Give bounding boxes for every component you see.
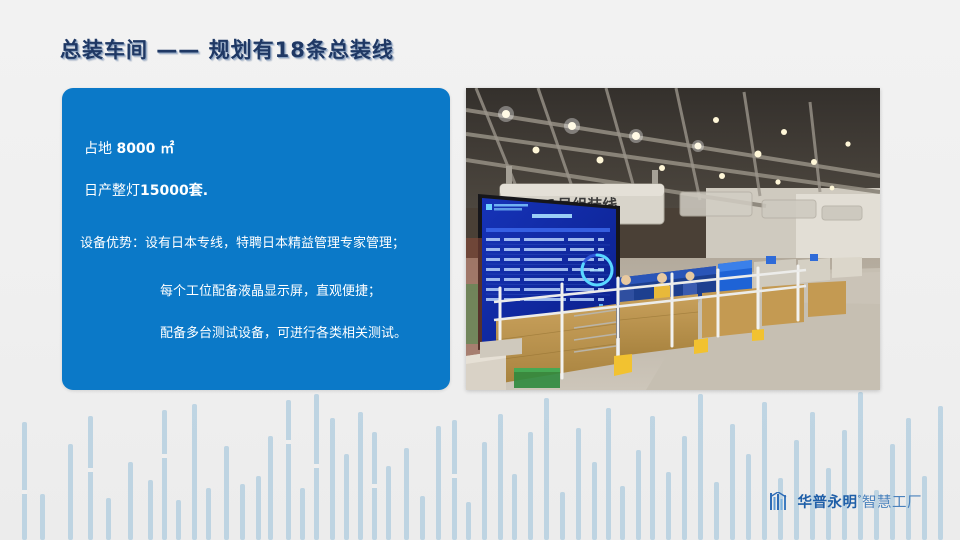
decorative-bar [746, 454, 751, 540]
decorative-bar [606, 408, 611, 540]
decorative-bar [330, 418, 335, 540]
output-suffix: . [203, 183, 208, 199]
decorative-bar [544, 398, 549, 540]
card-advantage-2: 每个工位配备液晶显示屏，直观便捷； [160, 284, 381, 300]
decorative-bar [88, 416, 93, 540]
decorative-bar [620, 486, 625, 540]
decorative-bar [682, 436, 687, 540]
info-card: 占地 8000 ㎡ 日产整灯15000套. 设备优势：设有日本专线，特聘日本精益… [62, 88, 450, 390]
decorative-bar [314, 394, 319, 540]
decorative-bar [162, 410, 167, 540]
decorative-bar [40, 494, 45, 540]
decorative-bar [592, 462, 597, 540]
decorative-bar [810, 412, 815, 540]
slide-canvas: 总装车间 —— 规划有18条总装线 占地 8000 ㎡ 日产整灯15000套. … [0, 0, 960, 540]
decorative-bar [192, 404, 197, 540]
decorative-bar-gap [286, 440, 291, 444]
decorative-bar [404, 448, 409, 540]
card-advantage-3: 配备多台测试设备，可进行各类相关测试。 [160, 326, 407, 342]
decorative-bar [22, 422, 27, 540]
decorative-bar [300, 488, 305, 540]
decorative-bar-gap [452, 474, 457, 478]
area-label: 占地 [84, 141, 116, 157]
decorative-bar [512, 474, 517, 540]
card-line-output: 日产整灯15000套. [84, 183, 208, 200]
logo-brand: 华普永明 [798, 495, 858, 511]
decorative-bar [528, 432, 533, 540]
logo-text: 华普永明°智慧工厂 [798, 491, 923, 512]
decorative-bar [358, 412, 363, 540]
decorative-bar [842, 430, 847, 540]
decorative-bar [666, 472, 671, 540]
decorative-bar [714, 482, 719, 540]
decorative-bar [938, 406, 943, 540]
decorative-bar [698, 394, 703, 540]
decorative-bar [240, 484, 245, 540]
factory-photo: 1号组装线 Assembly Line 01 [466, 88, 880, 390]
decorative-bar [576, 428, 581, 540]
decorative-bar-gap [88, 468, 93, 472]
decorative-bar-gap [22, 490, 27, 494]
decorative-bar-gap [314, 464, 319, 468]
decorative-bar [286, 400, 291, 540]
decorative-bar-pattern [0, 390, 960, 540]
decorative-bar [176, 500, 181, 540]
decorative-bar [68, 444, 73, 540]
decorative-bar [466, 502, 471, 540]
decorative-bar [372, 432, 377, 540]
decorative-bar [224, 446, 229, 540]
decorative-bar [498, 414, 503, 540]
output-value: 15000套 [140, 183, 203, 199]
decorative-bar [148, 480, 153, 540]
decorative-bar [794, 440, 799, 540]
decorative-bar [906, 418, 911, 540]
decorative-bar [106, 498, 111, 540]
area-value: 8000 ㎡ [116, 141, 174, 157]
decorative-bar-gap [372, 484, 377, 488]
decorative-bar [650, 416, 655, 540]
brand-logo: 华普永明°智慧工厂 [770, 491, 923, 512]
output-label: 日产整灯 [84, 183, 140, 199]
decorative-bar [256, 476, 261, 540]
card-line-area: 占地 8000 ㎡ [84, 141, 174, 158]
decorative-bar [268, 436, 273, 540]
decorative-bar [452, 420, 457, 540]
decorative-bar [636, 450, 641, 540]
decorative-bar [128, 462, 133, 540]
decorative-bar [420, 496, 425, 540]
page-title: 总装车间 —— 规划有18条总装线 [60, 34, 394, 64]
decorative-bar [436, 426, 441, 540]
decorative-bar [762, 402, 767, 540]
decorative-bar [560, 492, 565, 540]
logo-mark-icon [770, 492, 792, 511]
decorative-bar [206, 488, 211, 540]
decorative-bar [386, 466, 391, 540]
decorative-bar [730, 424, 735, 540]
decorative-bar [922, 476, 927, 540]
decorative-bar [482, 442, 487, 540]
decorative-bar [344, 454, 349, 540]
decorative-bar-gap [162, 454, 167, 458]
logo-tagline: 智慧工厂 [862, 495, 922, 511]
card-advantage-1: 设备优势：设有日本专线，特聘日本精益管理专家管理； [80, 236, 405, 252]
decorative-bar [858, 392, 863, 540]
